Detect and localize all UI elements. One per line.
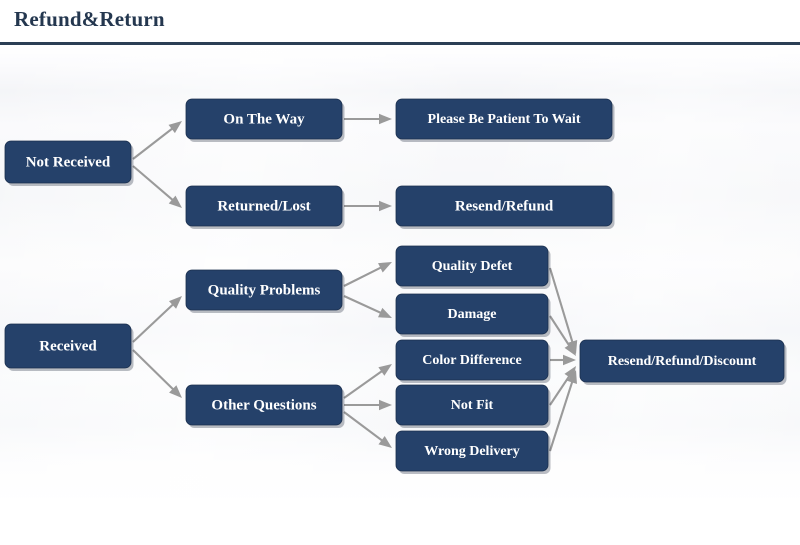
node-other-questions[interactable]: Other Questions xyxy=(186,385,345,428)
nodes-layer: Not ReceivedOn The WayReturned/LostPleas… xyxy=(5,99,787,474)
edge-other-questions-to-not-fit xyxy=(344,400,392,410)
node-please-wait[interactable]: Please Be Patient To Wait xyxy=(396,99,615,142)
edge-other-questions-to-color-difference xyxy=(344,364,392,398)
edge-color-difference-to-resend-refund-discount xyxy=(550,355,576,365)
node-on-the-way[interactable]: On The Way xyxy=(186,99,345,142)
node-label: Resend/Refund xyxy=(455,198,554,214)
node-label: Received xyxy=(39,338,97,354)
node-label: Please Be Patient To Wait xyxy=(428,112,581,127)
diagram-canvas: Not ReceivedOn The WayReturned/LostPleas… xyxy=(0,46,800,545)
edge-received-to-quality-problems xyxy=(133,296,182,342)
edge-on-the-way-to-please-wait xyxy=(344,114,392,124)
node-label: Quality Defet xyxy=(432,259,513,274)
node-label: Other Questions xyxy=(211,397,316,413)
node-label: On The Way xyxy=(223,111,305,127)
flowchart-svg: Not ReceivedOn The WayReturned/LostPleas… xyxy=(0,46,800,545)
node-label: Damage xyxy=(448,307,497,322)
node-not-fit[interactable]: Not Fit xyxy=(396,385,551,428)
node-label: Wrong Delivery xyxy=(424,444,520,459)
edge-other-questions-to-wrong-delivery xyxy=(344,412,392,448)
node-quality-defet[interactable]: Quality Defet xyxy=(396,246,551,289)
node-color-difference[interactable]: Color Difference xyxy=(396,340,551,383)
edge-quality-defet-to-resend-refund-discount xyxy=(550,268,577,354)
edge-quality-problems-to-damage xyxy=(344,296,392,318)
title-divider xyxy=(0,42,800,45)
edge-damage-to-resend-refund-discount xyxy=(550,316,576,356)
node-label: Returned/Lost xyxy=(217,198,310,214)
edge-received-to-other-questions xyxy=(133,350,182,398)
node-returned-lost[interactable]: Returned/Lost xyxy=(186,186,345,229)
node-not-received[interactable]: Not Received xyxy=(5,141,134,186)
node-damage[interactable]: Damage xyxy=(396,294,551,337)
node-quality-problems[interactable]: Quality Problems xyxy=(186,270,345,313)
edge-not-received-to-on-the-way xyxy=(133,121,182,159)
flowchart-page: Refund&Return Not ReceivedOn The WayRetu… xyxy=(0,0,800,545)
node-label: Resend/Refund/Discount xyxy=(608,354,757,369)
node-label: Color Difference xyxy=(422,353,521,368)
edge-quality-problems-to-quality-defet xyxy=(344,262,392,286)
edge-wrong-delivery-to-resend-refund-discount xyxy=(550,370,577,451)
node-received[interactable]: Received xyxy=(5,324,134,371)
page-title: Refund&Return xyxy=(14,7,165,32)
node-resend-refund-discount[interactable]: Resend/Refund/Discount xyxy=(580,340,787,385)
edge-not-received-to-returned-lost xyxy=(133,166,182,208)
node-resend-refund[interactable]: Resend/Refund xyxy=(396,186,615,229)
node-wrong-delivery[interactable]: Wrong Delivery xyxy=(396,431,551,474)
edge-returned-lost-to-resend-refund xyxy=(344,201,392,211)
page-header: Refund&Return xyxy=(0,0,800,46)
node-label: Quality Problems xyxy=(208,282,321,298)
node-label: Not Received xyxy=(26,154,111,170)
node-label: Not Fit xyxy=(451,398,494,413)
